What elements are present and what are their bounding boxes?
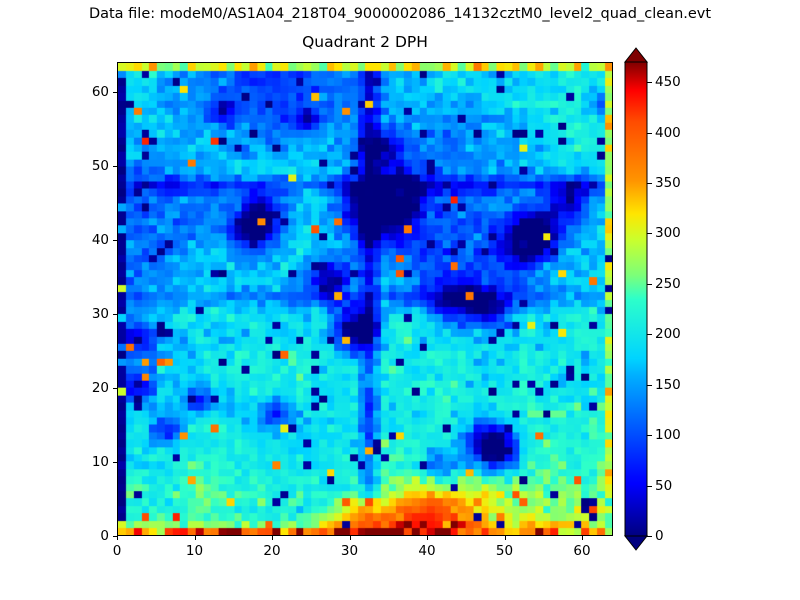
x-tick-label: 40	[418, 543, 435, 559]
heatmap-image[interactable]	[118, 63, 612, 535]
x-tick-mark	[350, 536, 351, 540]
colorbar-tick-mark	[647, 435, 652, 436]
y-tick-label: 50	[65, 158, 109, 174]
y-tick-label: 60	[65, 84, 109, 100]
colorbar-tick-label: 300	[655, 225, 681, 241]
colorbar-tick-mark	[647, 183, 652, 184]
colorbar-tick-label: 350	[655, 175, 681, 191]
x-tick-label: 20	[263, 543, 280, 559]
colorbar-tick-mark	[647, 334, 652, 335]
colorbar-tick-mark	[647, 133, 652, 134]
y-tick-mark	[113, 240, 117, 241]
figure-canvas: Data file: modeM0/AS1A04_218T04_90000020…	[0, 0, 800, 600]
y-tick-label: 30	[65, 306, 109, 322]
x-tick-mark	[195, 536, 196, 540]
x-tick-mark	[505, 536, 506, 540]
x-tick-mark	[117, 536, 118, 540]
colorbar-tick-mark	[647, 233, 652, 234]
colorbar-tick-mark	[647, 486, 652, 487]
colorbar-tick-mark	[647, 284, 652, 285]
plot-title: Quadrant 2 DPH	[117, 33, 613, 51]
colorbar-tick-label: 200	[655, 326, 681, 342]
heatmap-axes[interactable]	[117, 62, 613, 536]
y-tick-mark	[113, 92, 117, 93]
colorbar-extend-top-arrow	[625, 48, 647, 62]
colorbar-tick-label: 100	[655, 427, 681, 443]
y-tick-label: 20	[65, 380, 109, 396]
x-tick-label: 10	[186, 543, 203, 559]
y-tick-mark	[113, 462, 117, 463]
y-tick-label: 10	[65, 454, 109, 470]
x-tick-label: 60	[573, 543, 590, 559]
y-tick-label: 40	[65, 232, 109, 248]
colorbar-tick-label: 450	[655, 74, 681, 90]
y-tick-mark	[113, 536, 117, 537]
y-tick-mark	[113, 314, 117, 315]
colorbar-tick-label: 150	[655, 377, 681, 393]
colorbar-extend-bottom-arrow	[625, 536, 647, 550]
x-tick-mark	[582, 536, 583, 540]
y-tick-mark	[113, 166, 117, 167]
colorbar-tick-mark	[647, 385, 652, 386]
y-tick-label: 0	[65, 528, 109, 544]
colorbar-tick-label: 250	[655, 276, 681, 292]
colorbar-tick-label: 0	[655, 528, 664, 544]
colorbar-tick-label: 50	[655, 478, 672, 494]
colorbar[interactable]: 050100150200250300350400450	[625, 62, 647, 536]
x-tick-mark	[427, 536, 428, 540]
data-file-label: Data file: modeM0/AS1A04_218T04_90000020…	[0, 6, 800, 22]
colorbar-gradient	[625, 62, 647, 536]
x-tick-label: 30	[341, 543, 358, 559]
x-tick-mark	[272, 536, 273, 540]
colorbar-tick-mark	[647, 536, 652, 537]
colorbar-body	[625, 62, 647, 536]
colorbar-tick-label: 400	[655, 125, 681, 141]
x-tick-label: 50	[496, 543, 513, 559]
y-tick-mark	[113, 388, 117, 389]
x-tick-label: 0	[113, 543, 122, 559]
colorbar-tick-mark	[647, 82, 652, 83]
